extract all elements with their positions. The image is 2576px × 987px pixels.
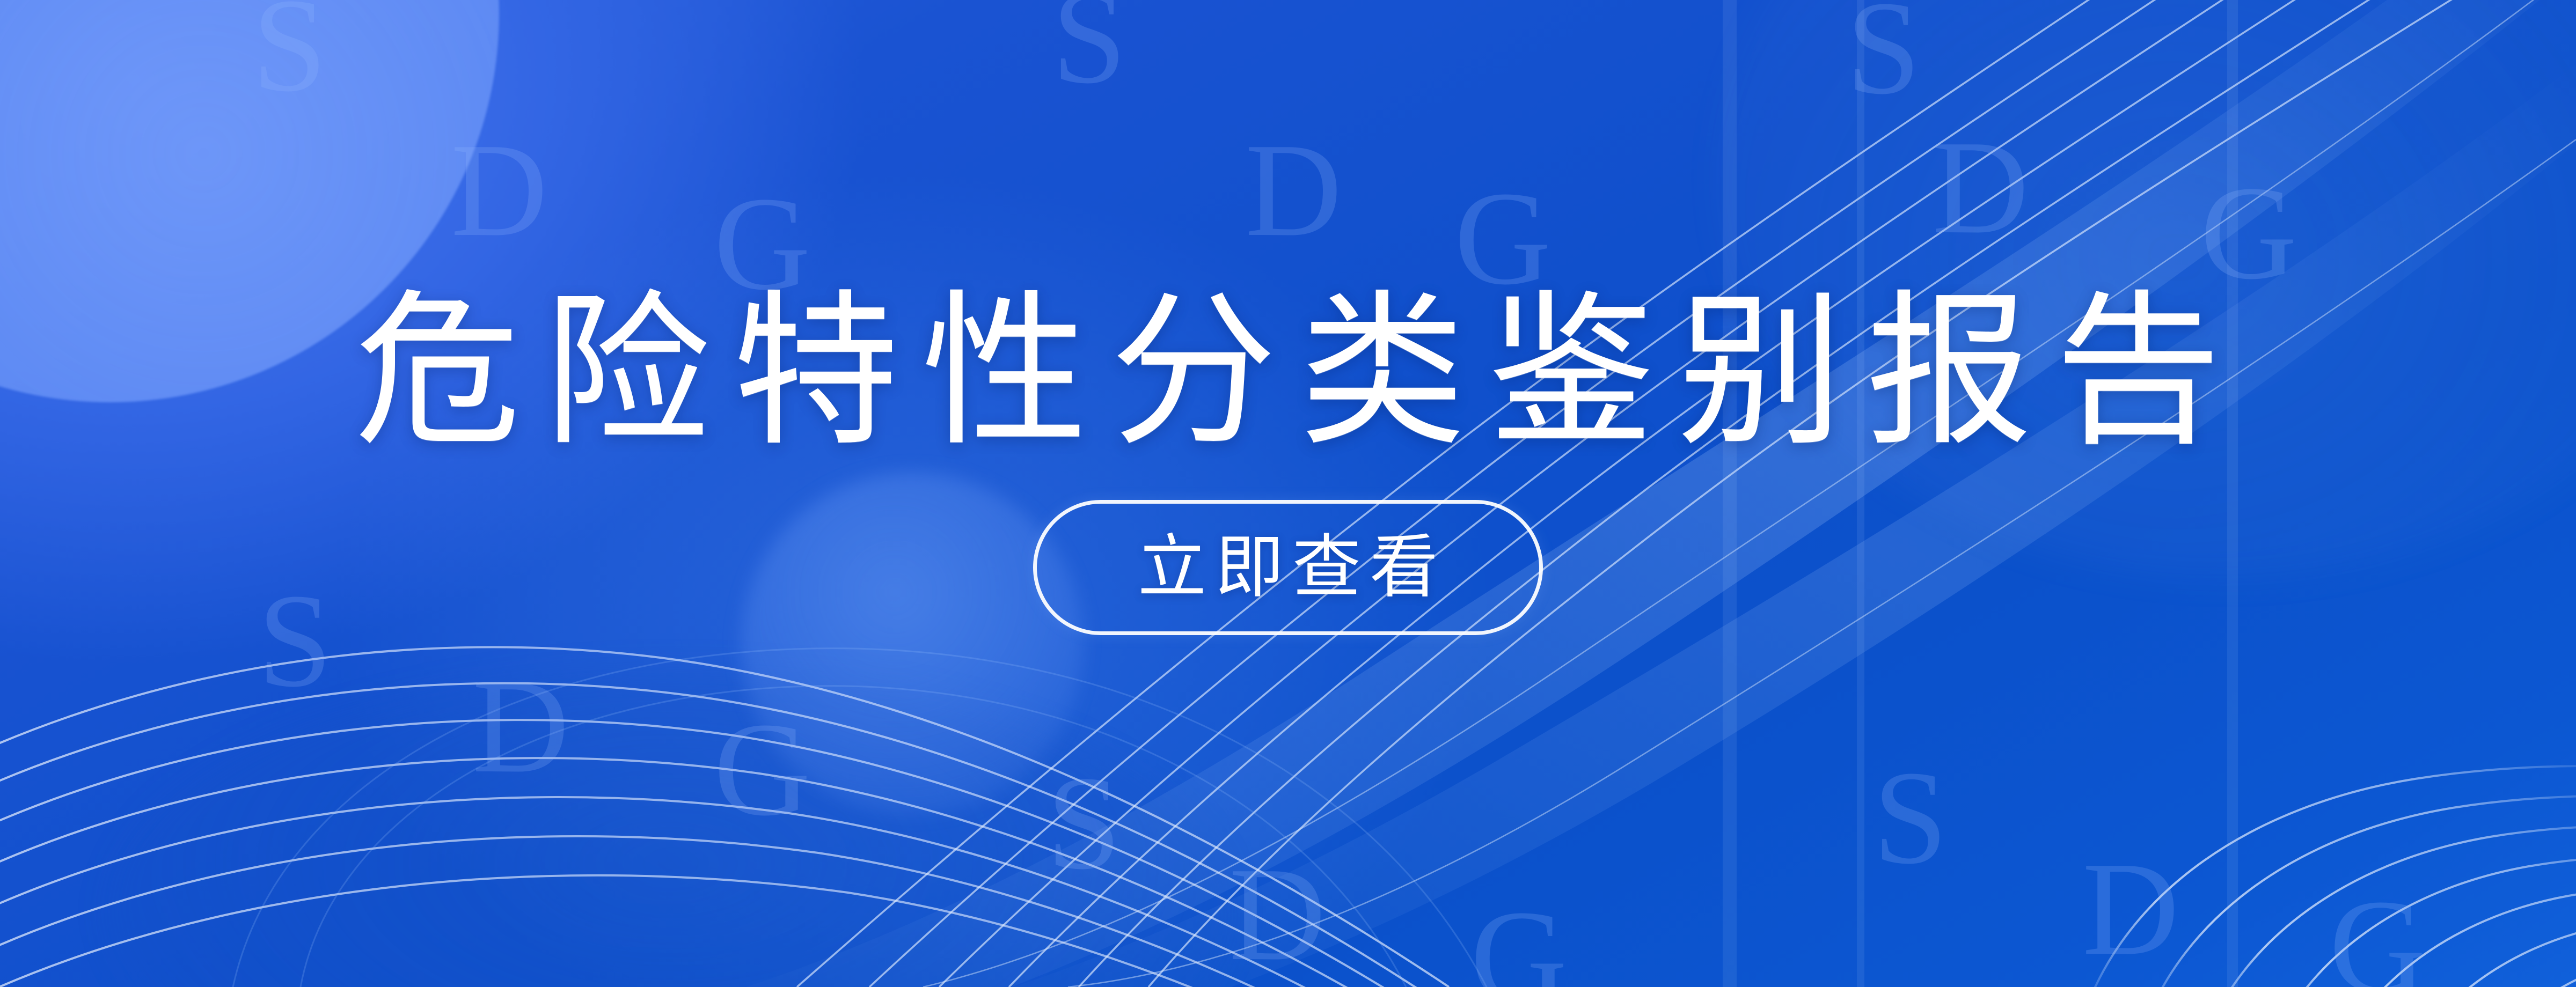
banner-title: 危险特性分类鉴别报告	[332, 289, 2244, 455]
view-now-button[interactable]: 立即查看	[1033, 500, 1543, 635]
promo-banner: SDGSDGSDGSDGSDGSDG 危险特性分类鉴别报告 立即查看	[0, 0, 2576, 987]
cta-container: 立即查看	[1033, 500, 1543, 635]
banner-content: 危险特性分类鉴别报告 立即查看	[0, 0, 2576, 987]
